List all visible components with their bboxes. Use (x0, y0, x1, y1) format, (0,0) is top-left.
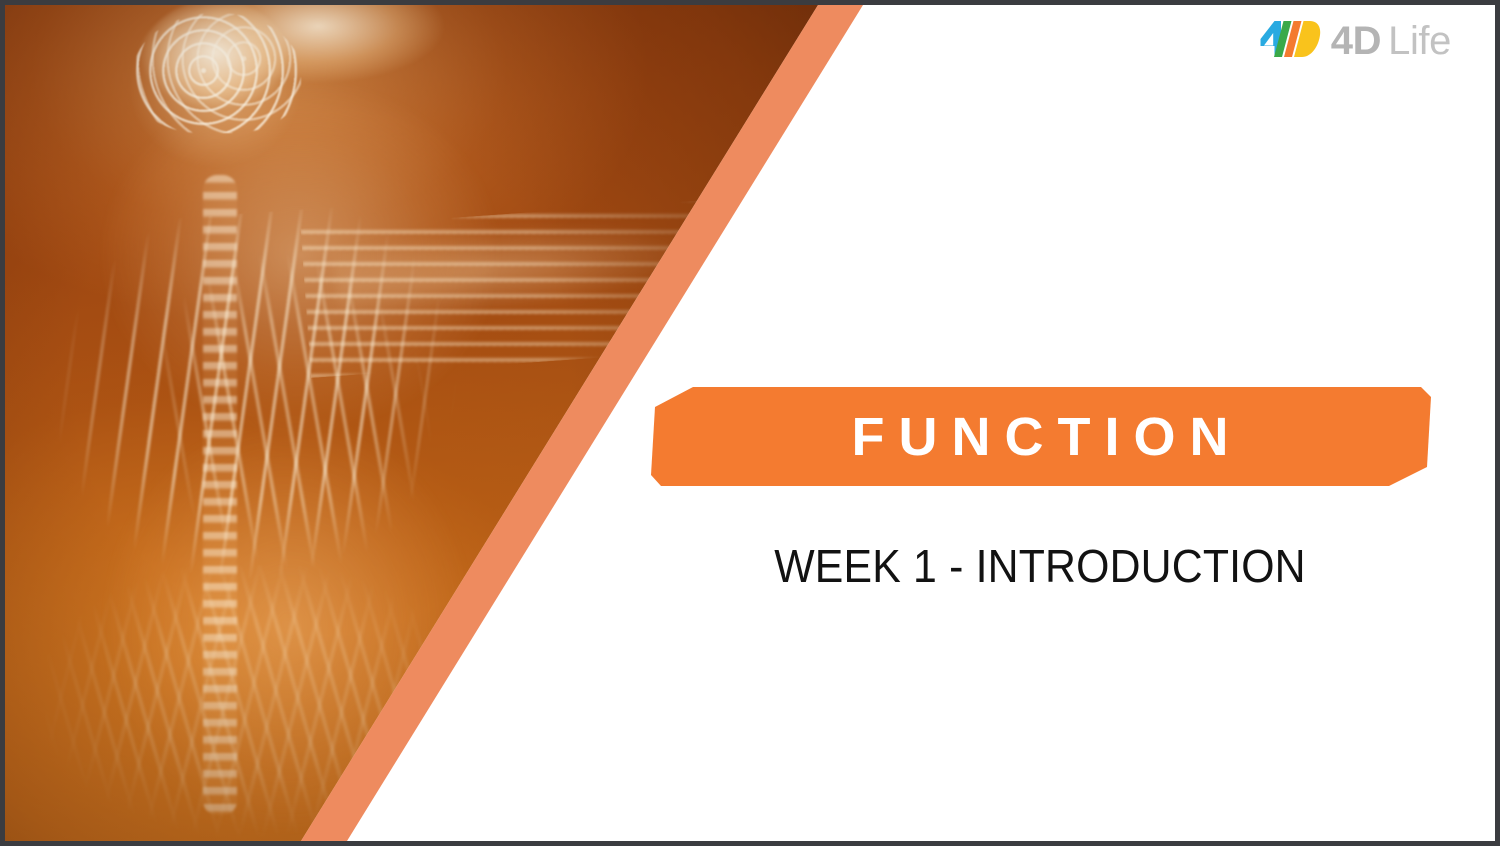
slide-frame: 4D Life FUNCTION WEEK 1 - INTRODUCTION (0, 0, 1500, 846)
function-banner-title: FUNCTION (645, 383, 1435, 490)
slide-subtitle: WEEK 1 - INTRODUCTION (673, 540, 1408, 593)
brand-wordmark: 4D Life (1331, 21, 1451, 61)
brand-wordmark-primary: 4D (1331, 21, 1381, 61)
slide-canvas: 4D Life FUNCTION WEEK 1 - INTRODUCTION (5, 5, 1495, 841)
brand-logo: 4D Life (1260, 17, 1451, 65)
4d-life-logo-mark (1260, 19, 1322, 64)
function-banner: FUNCTION (645, 383, 1435, 490)
brand-wordmark-secondary: Life (1388, 21, 1451, 61)
